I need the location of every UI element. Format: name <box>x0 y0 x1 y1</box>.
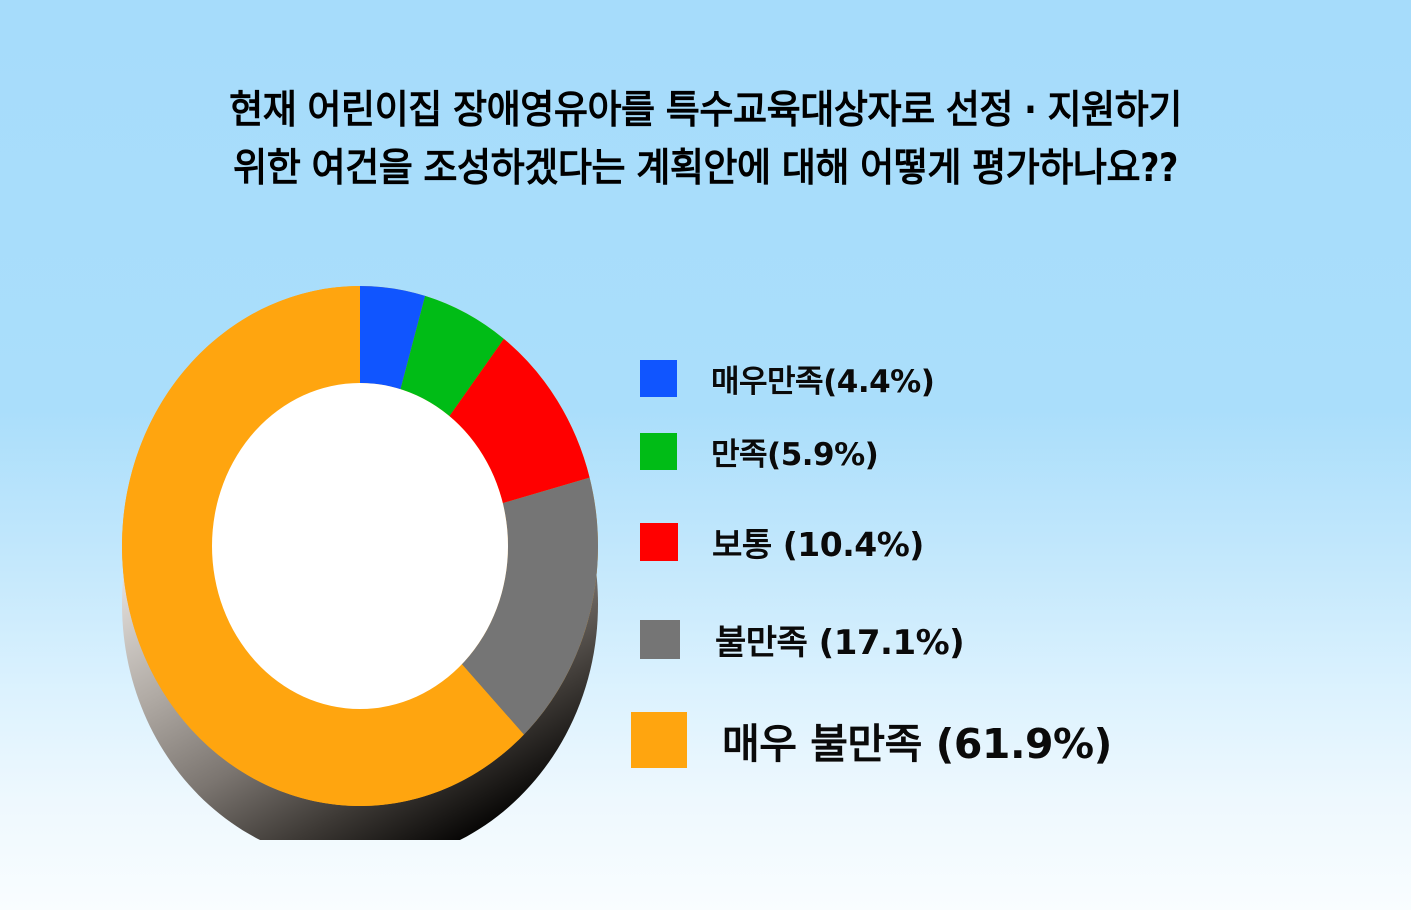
donut-hole <box>212 383 508 709</box>
legend-label-very-dissatisfied: 매우 불만족 (61.9%) <box>722 710 1112 770</box>
chart-title: 현재 어린이집 장애영유아를 특수교육대상자로 선정 · 지원하기 위한 여건을… <box>35 82 1375 198</box>
legend-swatch-satisfied <box>640 433 677 470</box>
legend-item-very-satisfied[interactable]: 매우만족(4.4%) <box>640 356 934 401</box>
donut-top-face <box>122 286 598 806</box>
donut-chart-svg <box>90 250 630 840</box>
legend-label-very-satisfied: 매우만족(4.4%) <box>711 356 934 401</box>
legend-label-satisfied: 만족(5.9%) <box>711 429 878 474</box>
chart-canvas: 현재 어린이집 장애영유아를 특수교육대상자로 선정 · 지원하기 위한 여건을… <box>0 0 1411 910</box>
legend-label-neutral: 보통 (10.4%) <box>712 518 924 566</box>
legend-item-satisfied[interactable]: 만족(5.9%) <box>640 429 878 474</box>
legend-item-very-dissatisfied[interactable]: 매우 불만족 (61.9%) <box>631 710 1112 770</box>
legend-swatch-neutral <box>640 523 678 561</box>
legend-swatch-very-dissatisfied <box>631 712 687 768</box>
legend-swatch-dissatisfied <box>640 620 680 659</box>
legend-label-dissatisfied: 불만족 (17.1%) <box>715 615 964 664</box>
legend-item-neutral[interactable]: 보통 (10.4%) <box>640 518 924 566</box>
legend-swatch-very-satisfied <box>640 360 677 397</box>
legend-item-dissatisfied[interactable]: 불만족 (17.1%) <box>640 615 964 664</box>
donut-chart <box>90 250 630 840</box>
